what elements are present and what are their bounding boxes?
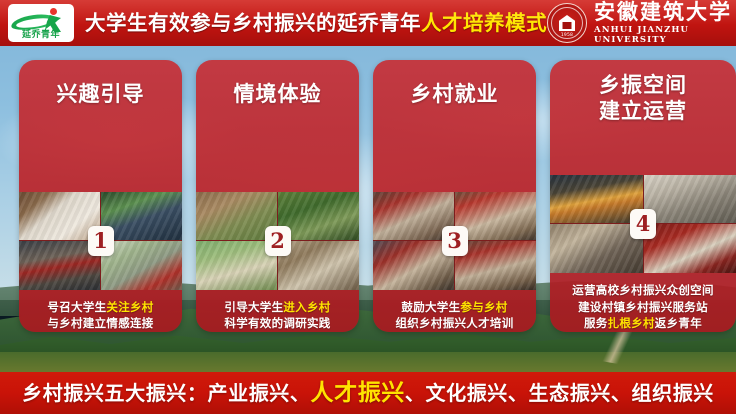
card-number-badge: 2: [265, 226, 291, 256]
sunset-bridge-photo: [550, 175, 643, 224]
caption-text: 与乡村建立情感连接: [47, 316, 153, 330]
university-lockup: 1958 安徽建筑大学 ANHUI JIANZHU UNIVERSITY: [547, 1, 736, 45]
page-title: 大学生有效参与乡村振兴的延乔青年人才培养模式: [85, 13, 547, 34]
page-title-accent: 人才培养模式: [421, 11, 547, 35]
card-photo-collage: 2: [196, 192, 359, 290]
university-name-cn: 安徽建筑大学: [594, 1, 732, 22]
page-header: 延乔青年 大学生有效参与乡村振兴的延乔青年人才培养模式 1958 安徽建筑大学 …: [0, 0, 736, 46]
card-caption: 运营高校乡村振兴众创空间建设村镇乡村振兴服务站服务扎根乡村返乡青年: [550, 273, 736, 332]
card-caption-line: 与乡村建立情感连接: [25, 315, 176, 332]
card-number-badge: 3: [442, 226, 468, 256]
card-caption-line: 鼓励大学生参与乡村: [379, 299, 530, 316]
footer-slogan: 乡村振兴五大振兴：产业振兴、人才振兴、文化振兴、生态振兴、组织振兴: [22, 382, 714, 405]
page-footer: 乡村振兴五大振兴：产业振兴、人才振兴、文化振兴、生态振兴、组织振兴: [0, 372, 736, 414]
university-name-en: ANHUI JIANZHU UNIVERSITY: [594, 25, 732, 45]
caption-text: 科学有效的调研实践: [224, 316, 330, 330]
card-number-badge: 1: [88, 226, 114, 256]
card-title: 情境体验: [196, 60, 359, 108]
caption-text: 组织乡村振兴人才培训: [396, 316, 514, 330]
card-caption-line: 运营高校乡村振兴众创空间: [556, 282, 730, 299]
card-photo-collage: 3: [373, 192, 536, 290]
caption-text: 引导大学生: [224, 300, 283, 314]
model-card-2[interactable]: 情境体验2引导大学生进入乡村科学有效的调研实践: [196, 60, 359, 332]
card-caption-line: 服务扎根乡村返乡青年: [556, 315, 730, 332]
caption-highlight: 参与乡村: [460, 300, 507, 314]
card-caption: 引导大学生进入乡村科学有效的调研实践: [196, 290, 359, 332]
card-title-line: 兴趣引导: [19, 82, 182, 108]
card-title-line: 情境体验: [196, 82, 359, 108]
card-caption-line: 引导大学生进入乡村: [202, 299, 353, 316]
logo-runner-head-icon: [50, 8, 57, 15]
card-title: 兴趣引导: [19, 60, 182, 108]
card-caption: 号召大学生关注乡村与乡村建立情感连接: [19, 290, 182, 332]
team-group-photo: [644, 175, 736, 224]
card-caption-line: 科学有效的调研实践: [202, 315, 353, 332]
card-photo-collage: 1: [19, 192, 182, 290]
logo-label: 延乔青年: [8, 27, 74, 40]
village-visit-photo: [550, 224, 643, 273]
card-title-line: 乡村就业: [373, 82, 536, 108]
caption-text: 建设村镇乡村振兴服务站: [578, 300, 708, 314]
card-caption-line: 建设村镇乡村振兴服务站: [556, 299, 730, 316]
model-cards-row: 兴趣引导1号召大学生关注乡村与乡村建立情感连接情境体验2引导大学生进入乡村科学有…: [0, 46, 736, 346]
university-names: 安徽建筑大学 ANHUI JIANZHU UNIVERSITY: [594, 1, 732, 45]
university-seal-icon: 1958: [547, 3, 587, 43]
caption-text: 服务: [584, 316, 608, 330]
card-number-badge: 4: [630, 209, 656, 239]
seal-building-door: [563, 22, 572, 29]
caption-text: 运营高校乡村振兴众创空间: [572, 283, 714, 297]
caption-highlight: 进入乡村: [283, 300, 330, 314]
footer-slogan-suffix: 、文化振兴、生态振兴、组织振兴: [405, 381, 714, 405]
model-card-1[interactable]: 兴趣引导1号召大学生关注乡村与乡村建立情感连接: [19, 60, 182, 332]
running-youth-logo-icon: 延乔青年: [8, 4, 74, 42]
card-title-line: 建立运营: [550, 99, 736, 125]
model-card-3[interactable]: 乡村就业3鼓励大学生参与乡村组织乡村振兴人才培训: [373, 60, 536, 332]
caption-highlight: 关注乡村: [106, 300, 153, 314]
card-title: 乡振空间建立运营: [550, 60, 736, 124]
page-title-main: 大学生有效参与乡村振兴的延乔青年: [85, 11, 421, 35]
caption-text: 返乡青年: [655, 316, 702, 330]
footer-slogan-prefix: 乡村振兴五大振兴：产业振兴、: [22, 381, 310, 405]
footer-slogan-accent: 人才振兴: [311, 380, 405, 406]
caption-text: 鼓励大学生: [401, 300, 460, 314]
card-caption-line: 号召大学生关注乡村: [25, 299, 176, 316]
card-title-line: 乡振空间: [550, 73, 736, 99]
model-card-4[interactable]: 乡振空间建立运营4运营高校乡村振兴众创空间建设村镇乡村振兴服务站服务扎根乡村返乡…: [550, 60, 736, 332]
caption-highlight: 扎根乡村: [608, 316, 655, 330]
card-caption: 鼓励大学生参与乡村组织乡村振兴人才培训: [373, 290, 536, 332]
caption-text: 号召大学生: [47, 300, 106, 314]
card-title: 乡村就业: [373, 60, 536, 108]
seal-year: 1958: [548, 33, 586, 38]
red-lecture-hall-photo: [644, 224, 736, 273]
card-caption-line: 组织乡村振兴人才培训: [379, 315, 530, 332]
card-photo-collage: 4: [550, 175, 736, 273]
